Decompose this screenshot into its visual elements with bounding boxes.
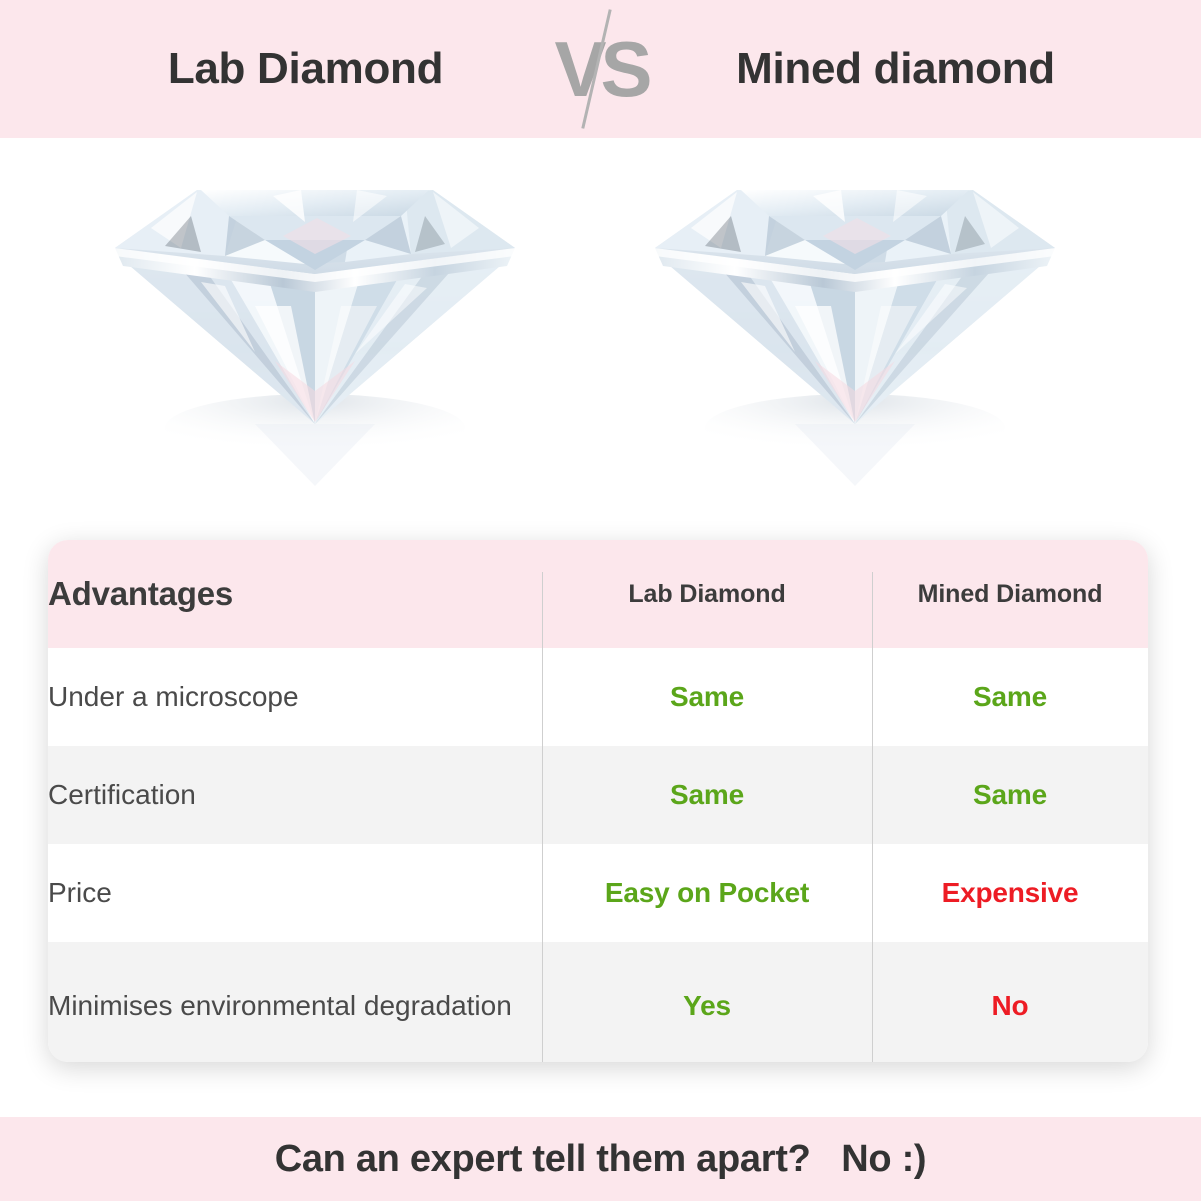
row-value-lab: Easy on Pocket [542, 844, 872, 942]
table-header-row: Advantages Lab Diamond Mined Diamond [48, 540, 1148, 648]
row-value-lab: Yes [542, 942, 872, 1062]
footer-question: Can an expert tell them apart? No :) [275, 1138, 927, 1181]
row-label: Certification [48, 746, 542, 844]
mined-diamond-image [645, 156, 1065, 496]
column-header-lab-diamond: Lab Diamond [542, 540, 872, 648]
row-label: Price [48, 844, 542, 942]
footer-band: Can an expert tell them apart? No :) [0, 1117, 1201, 1201]
lab-diamond-image [105, 156, 525, 496]
column-divider-1 [542, 572, 543, 1062]
row-value-mined: Same [872, 746, 1148, 844]
row-label: Minimises environmental degradation [48, 942, 542, 1062]
header-band: Lab Diamond VS Mined diamond [0, 0, 1201, 138]
row-value-lab: Same [542, 648, 872, 746]
table-row: Certification Same Same [48, 746, 1148, 844]
table-row: Price Easy on Pocket Expensive [48, 844, 1148, 942]
column-divider-2 [872, 572, 873, 1062]
page-title-lab-diamond: Lab Diamond [168, 44, 443, 93]
row-label: Under a microscope [48, 648, 542, 746]
row-value-lab: Same [542, 746, 872, 844]
table-row: Minimises environmental degradation Yes … [48, 942, 1148, 1062]
row-value-mined: Expensive [872, 844, 1148, 942]
row-value-mined: Same [872, 648, 1148, 746]
column-header-mined-diamond: Mined Diamond [872, 540, 1148, 648]
vs-badge: VS [541, 0, 661, 138]
comparison-table-card: Advantages Lab Diamond Mined Diamond Und… [48, 540, 1148, 1062]
page-title-mined-diamond: Mined diamond [736, 44, 1055, 93]
diamond-images-area [0, 138, 1201, 530]
comparison-table: Advantages Lab Diamond Mined Diamond Und… [48, 540, 1148, 1062]
column-header-advantages: Advantages [48, 540, 542, 648]
row-value-mined: No [872, 942, 1148, 1062]
table-row: Under a microscope Same Same [48, 648, 1148, 746]
infographic-page: Lab Diamond VS Mined diamond [0, 0, 1201, 1201]
